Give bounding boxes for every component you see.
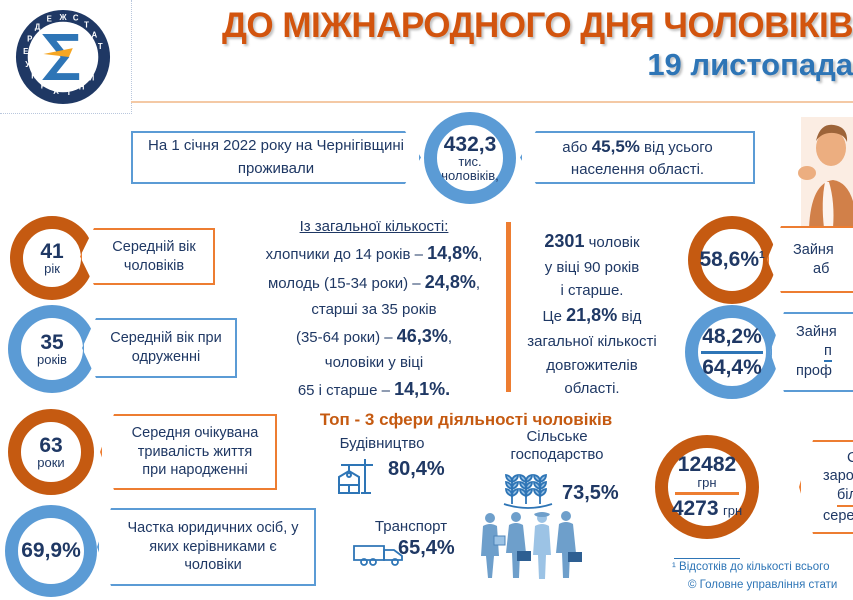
circle-divider bbox=[701, 351, 763, 354]
age-row-text: молодь (15-34 роки) – bbox=[268, 275, 425, 292]
avg-age-value: 41 bbox=[40, 241, 63, 262]
avg-marriage-age-callout: Середній вік при одруженні bbox=[82, 318, 237, 378]
avg-age-callout: Середній вік чоловіків bbox=[80, 228, 215, 285]
sector-value-agriculture: 73,5% bbox=[562, 482, 619, 505]
age-breakdown-row: старші за 35 років bbox=[250, 298, 498, 322]
employment-profession-circle: 48,2% 64,4% bbox=[685, 305, 779, 399]
salary-value-top: 12482 bbox=[678, 454, 736, 475]
page-subtitle: 19 листопада bbox=[128, 49, 853, 80]
age-breakdown-row: хлопчики до 14 років – 14,8%, bbox=[250, 239, 498, 268]
age-row-text: старші за 35 років bbox=[311, 301, 436, 318]
longevity-value: 2301 bbox=[544, 231, 584, 251]
infographic-canvas: Ж Е Д С Т А Т Р Е У К Р А Ї Н И ДО МІЖНА… bbox=[0, 0, 853, 600]
footnote-2: © Головне управління стати bbox=[688, 579, 837, 591]
banner-right-box: або 45,5% від усього населення області. bbox=[520, 131, 755, 184]
longevity-tail2: від bbox=[617, 308, 641, 325]
crane-icon bbox=[335, 455, 379, 497]
life-expectancy-value: 63 bbox=[39, 435, 62, 456]
age-row-value: 14,8% bbox=[427, 243, 478, 263]
longevity-block: 2301 чоловік у віці 90 років і старше. Ц… bbox=[516, 228, 668, 400]
age-row-text: хлопчики до 14 років – bbox=[266, 246, 428, 263]
sector-label-agriculture: Сільське господарство bbox=[496, 428, 618, 464]
longevity-tail: чоловік bbox=[584, 234, 639, 251]
age-row-tail: , bbox=[478, 246, 482, 263]
avg-age-unit: рік bbox=[44, 262, 60, 275]
salary-divider bbox=[675, 492, 739, 495]
salary-circle: 12482 грн 4273 грн bbox=[655, 435, 759, 539]
age-row-value: 24,8% bbox=[425, 272, 476, 292]
employment-profession-label-2: п bbox=[824, 342, 832, 363]
sector-value-transport: 65,4% bbox=[398, 537, 455, 560]
age-row-value: 46,3% bbox=[397, 326, 448, 346]
banner-right-value: 45,5% bbox=[592, 137, 640, 156]
age-breakdown-row: молодь (15-34 роки) – 24,8%, bbox=[250, 268, 498, 297]
age-row-text: 65 і старше – bbox=[298, 382, 394, 399]
age-row-text: (35-64 роки) – bbox=[296, 329, 397, 346]
sector-value-construction: 80,4% bbox=[388, 458, 445, 481]
life-expectancy-unit: роки bbox=[37, 456, 64, 469]
total-men-circle: 432,3 тис. чоловіків, bbox=[424, 112, 516, 204]
svg-text:Т: Т bbox=[98, 42, 103, 51]
employment-profession-callout: Зайня п проф bbox=[770, 312, 853, 392]
svg-text:Е: Е bbox=[23, 47, 28, 56]
svg-text:Т: Т bbox=[84, 21, 89, 30]
legal-entities-label: Частка юридичних осіб, у яких керівникам… bbox=[121, 519, 305, 575]
employment-value: 58,6% bbox=[699, 248, 759, 271]
svg-text:Р: Р bbox=[41, 81, 46, 90]
employment-profession-label-3: проф bbox=[796, 363, 832, 379]
total-men-value: 432,3 bbox=[444, 134, 497, 155]
footnote-1: ¹ Відсотків до кількості всього bbox=[672, 561, 830, 573]
total-men-unit-1: тис. bbox=[458, 155, 481, 168]
age-row-tail: , bbox=[448, 329, 452, 346]
logo-container: Ж Е Д С Т А Т Р Е У К Р А Ї Н И bbox=[0, 0, 132, 114]
salary-unit-bottom: грн bbox=[723, 503, 742, 518]
life-expectancy-circle: 63 роки bbox=[8, 409, 94, 495]
banner-left-box: На 1 січня 2022 року на Чернігівщині про… bbox=[131, 131, 421, 184]
businessmen-silhouettes bbox=[478, 508, 588, 586]
employment-label-2: аб bbox=[813, 260, 829, 279]
salary-bottom-row: 4273 грн bbox=[672, 498, 742, 519]
svg-text:Ж: Ж bbox=[58, 13, 67, 22]
vertical-divider bbox=[506, 222, 511, 392]
longevity-row: загальної кількості bbox=[516, 330, 668, 353]
total-men-unit-2: чоловіків, bbox=[441, 169, 499, 182]
svg-text:А: А bbox=[53, 87, 59, 96]
age-row-tail: , bbox=[476, 275, 480, 292]
top3-title: Топ - 3 сфери діяльності чоловіків bbox=[286, 410, 646, 430]
age-breakdown-block: Із загальної кількості: хлопчики до 14 р… bbox=[250, 215, 498, 405]
svg-text:К: К bbox=[31, 72, 36, 81]
employment-label-1: Зайня bbox=[793, 242, 834, 258]
header-divider bbox=[131, 101, 853, 103]
legal-entities-value: 69,9% bbox=[21, 540, 81, 561]
salary-label-2: зароб bbox=[823, 468, 853, 484]
banner-right-prefix: або bbox=[562, 139, 591, 156]
man-photo bbox=[795, 103, 853, 228]
longevity-row: Це 21,8% від bbox=[516, 302, 668, 330]
employment-circle: 58,6%1 bbox=[688, 216, 776, 304]
salary-label-4: серед bbox=[823, 508, 853, 524]
svg-text:Е: Е bbox=[47, 15, 52, 24]
avg-age-label: Середній вік чоловіків bbox=[104, 238, 204, 275]
longevity-row: і старше. bbox=[516, 279, 668, 302]
age-breakdown-row: 65 і старше – 14,1%. bbox=[250, 375, 498, 404]
derzhstat-logo: Ж Е Д С Т А Т Р Е У К Р А Ї Н И bbox=[14, 8, 112, 106]
employment-callout: Зайня аб bbox=[767, 226, 853, 293]
employment-profession-bottom: 64,4% bbox=[702, 357, 762, 378]
svg-text:Н: Н bbox=[79, 82, 85, 91]
age-row-value: 14,1% bbox=[394, 379, 445, 399]
salary-value-bottom: 4273 bbox=[672, 497, 719, 520]
age-row-text: чоловіки у віці bbox=[325, 354, 423, 371]
sector-label-construction: Будівництво bbox=[318, 435, 446, 453]
legal-entities-callout: Частка юридичних осіб, у яких керівникам… bbox=[97, 508, 316, 586]
age-breakdown-row: чоловіки у віці bbox=[250, 351, 498, 375]
svg-text:А: А bbox=[92, 30, 98, 39]
avg-marriage-age-label: Середній вік при одруженні bbox=[106, 329, 226, 366]
longevity-row: 2301 чоловік bbox=[516, 228, 668, 256]
avg-marriage-age-value: 35 bbox=[40, 332, 63, 353]
life-expectancy-label: Середня очікувана тривалість життя при н… bbox=[124, 424, 266, 480]
legal-entities-circle: 69,9% bbox=[5, 505, 97, 597]
svg-text:С: С bbox=[73, 14, 79, 23]
employment-profession-top: 48,2% bbox=[702, 326, 762, 347]
longevity-prefix: Це bbox=[543, 308, 567, 325]
longevity-row: області. bbox=[516, 377, 668, 400]
svg-text:Д: Д bbox=[35, 23, 41, 32]
footnote-divider bbox=[674, 558, 740, 559]
employment-value-wrap: 58,6%1 bbox=[699, 249, 764, 270]
age-row-tail: . bbox=[445, 379, 450, 399]
age-breakdown-heading: Із загальної кількості: bbox=[250, 215, 498, 239]
life-expectancy-callout: Середня очікувана тривалість життя при н… bbox=[100, 414, 277, 490]
sector-label-transport: Транспорт bbox=[356, 518, 466, 536]
longevity-row: довгожителів bbox=[516, 354, 668, 377]
wheat-icon bbox=[500, 470, 556, 512]
employment-profession-label-1: Зайня bbox=[796, 324, 837, 340]
salary-unit-top: грн bbox=[697, 476, 716, 489]
age-breakdown-row: (35-64 роки) – 46,3%, bbox=[250, 322, 498, 351]
avg-marriage-age-unit: років bbox=[37, 353, 67, 366]
employment-footnote-marker: 1 bbox=[759, 250, 765, 261]
longevity-percent: 21,8% bbox=[566, 305, 617, 325]
svg-text:Р: Р bbox=[27, 34, 32, 43]
salary-callout: С зароб біл серед bbox=[799, 440, 853, 534]
page-title: ДО МІЖНАРОДНОГО ДНЯ ЧОЛОВІКІВ bbox=[128, 8, 853, 43]
salary-label-3: біл bbox=[837, 486, 853, 507]
svg-text:И: И bbox=[89, 74, 95, 83]
salary-label-1: С bbox=[847, 449, 853, 468]
banner-left-text: На 1 січня 2022 року на Чернігівщині про… bbox=[143, 135, 409, 180]
longevity-row: у віці 90 років bbox=[516, 256, 668, 279]
svg-text:У: У bbox=[25, 60, 30, 69]
